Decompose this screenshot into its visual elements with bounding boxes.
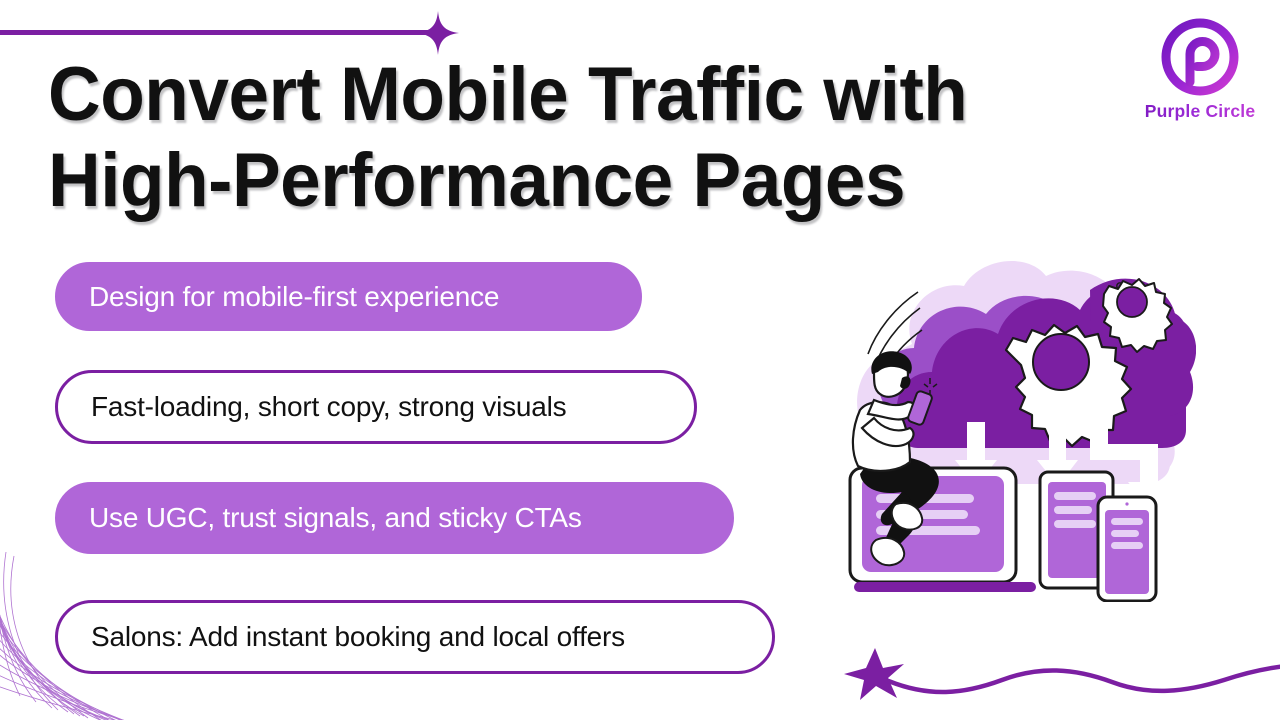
bullet-pill-4-label: Salons: Add instant booking and local of… (91, 621, 625, 653)
bullet-pill-4[interactable]: Salons: Add instant booking and local of… (55, 600, 775, 674)
phone-device (1098, 497, 1156, 601)
page-title: Convert Mobile Traffic with High-Perform… (48, 52, 1066, 224)
cloud-gears-responsive-devices-illustration (840, 252, 1196, 602)
phone-content-lines (1111, 518, 1143, 549)
bullet-pill-3-label: Use UGC, trust signals, and sticky CTAs (89, 502, 582, 534)
bullet-pill-2[interactable]: Fast-loading, short copy, strong visuals (55, 370, 697, 444)
four-point-star-icon (416, 10, 460, 56)
bullet-pill-1-label: Design for mobile-first experience (89, 281, 499, 313)
bullet-pill-1[interactable]: Design for mobile-first experience (55, 262, 642, 331)
slide-canvas: Purple Circle Convert Mobile Traffic wit… (0, 0, 1280, 720)
bottom-wave-with-star (834, 642, 1280, 706)
top-decorative-line (0, 30, 432, 35)
bullet-pill-3[interactable]: Use UGC, trust signals, and sticky CTAs (55, 482, 734, 554)
tablet-content-lines (1054, 492, 1096, 528)
five-point-star-icon (844, 648, 904, 700)
brand-name: Purple Circle (1132, 101, 1268, 122)
bullet-pill-2-label: Fast-loading, short copy, strong visuals (91, 391, 566, 423)
brand-logo: Purple Circle (1132, 14, 1268, 130)
purple-circle-p-logo-icon (1157, 14, 1243, 100)
